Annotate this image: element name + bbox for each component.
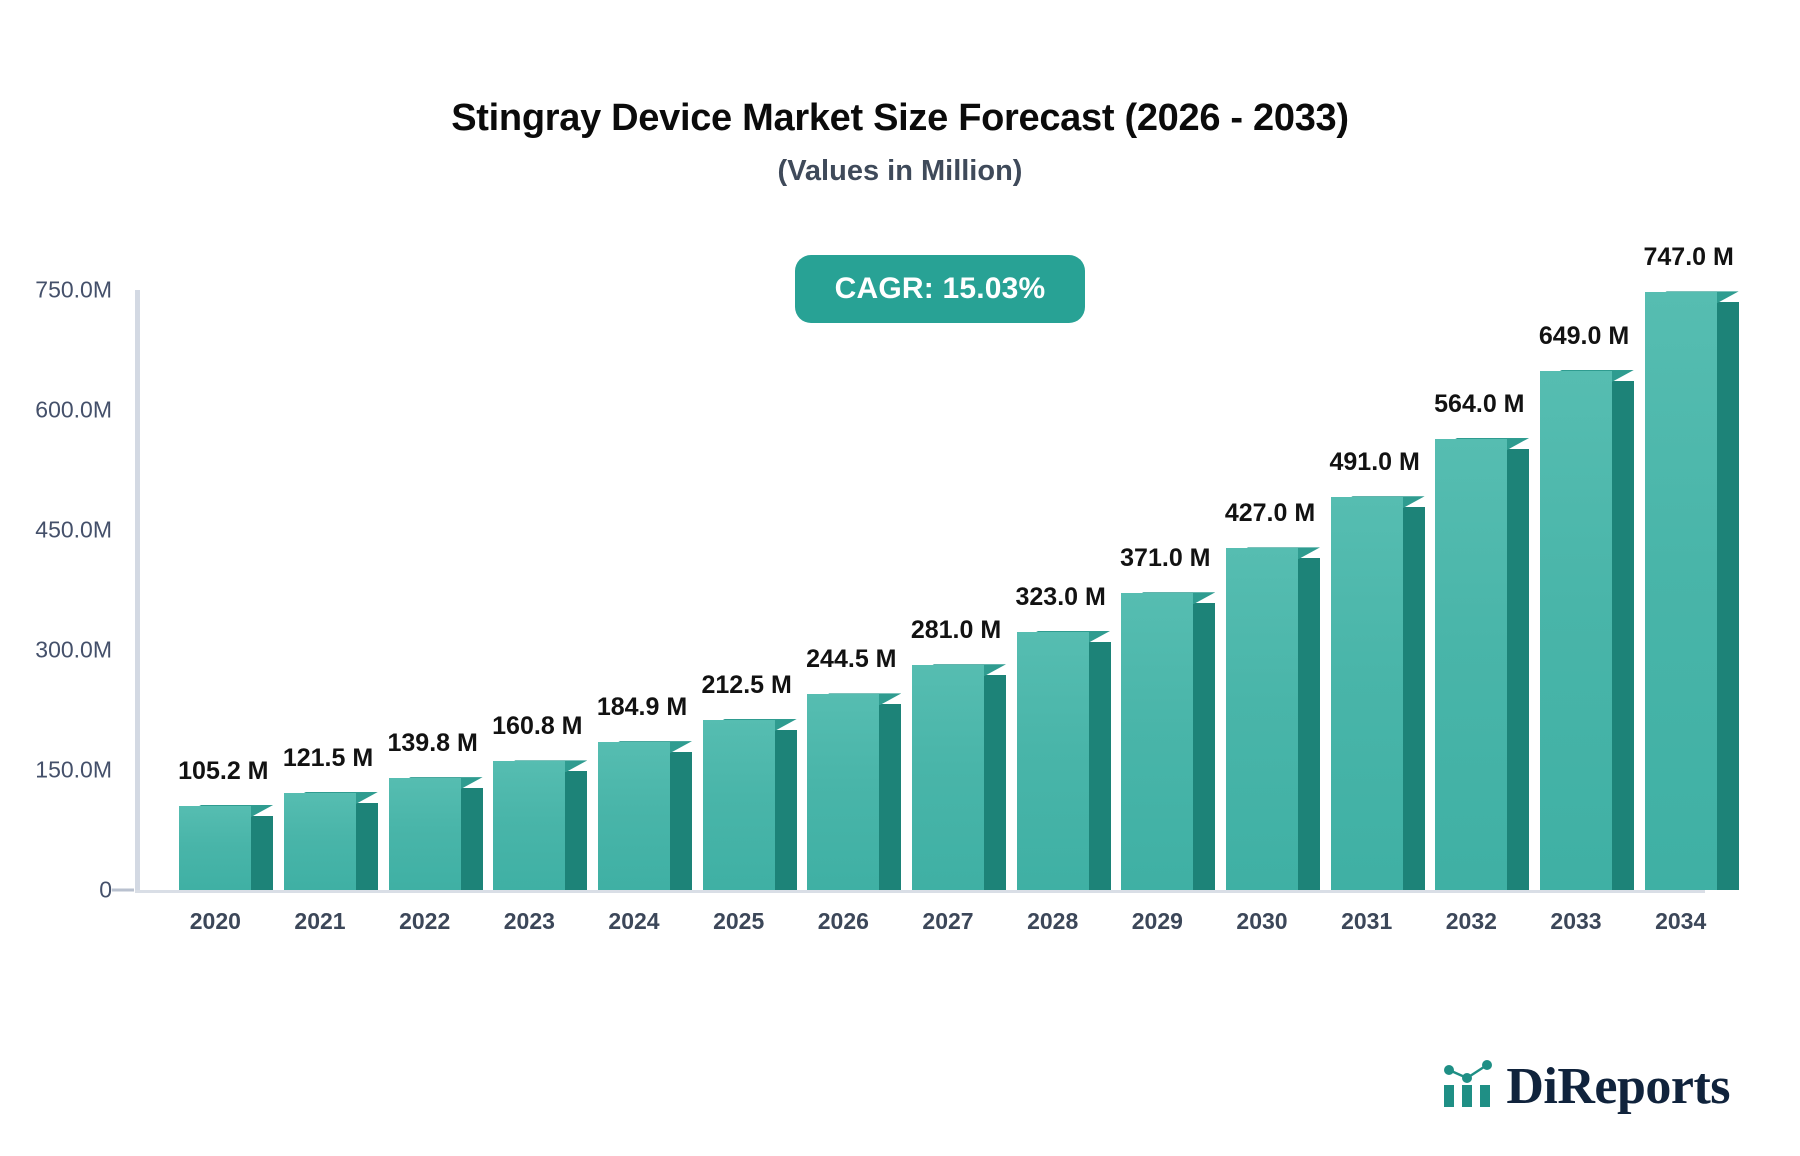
bar-front-face	[1226, 548, 1298, 890]
bar-side-face	[356, 803, 378, 890]
bar-2033[interactable]	[1540, 371, 1612, 890]
bar-front-face	[703, 720, 775, 890]
bar-front-face	[1435, 439, 1507, 890]
bar-2028[interactable]	[1017, 632, 1089, 890]
plot-area: 105.2 M121.5 M139.8 M160.8 M184.9 M212.5…	[135, 290, 1705, 890]
bar-value-label: 371.0 M	[1120, 544, 1210, 573]
bar-2027[interactable]	[912, 665, 984, 890]
bar-side-face	[775, 730, 797, 890]
logo-text: DiReports	[1506, 1061, 1730, 1113]
bar-value-label: 139.8 M	[387, 729, 477, 758]
x-tick-label-2031: 2031	[1341, 908, 1392, 935]
bar-value-label: 244.5 M	[806, 645, 896, 674]
bar-front-face	[912, 665, 984, 890]
bar-2032[interactable]	[1435, 439, 1507, 890]
x-tick-label-2020: 2020	[190, 908, 241, 935]
x-tick-label-2024: 2024	[608, 908, 659, 935]
bar-front-face	[284, 793, 356, 890]
y-tick-label: 0	[99, 877, 112, 904]
x-tick-label-2030: 2030	[1236, 908, 1287, 935]
bar-side-face	[1298, 558, 1320, 890]
x-tick-label-2027: 2027	[922, 908, 973, 935]
y-tick-label: 750.0M	[35, 277, 112, 304]
bar-2021[interactable]	[284, 793, 356, 890]
x-axis-labels: 2020202120222023202420252026202720282029…	[135, 908, 1705, 948]
y-tick-label: 600.0M	[35, 397, 112, 424]
y-tick-label: 300.0M	[35, 637, 112, 664]
bar-front-face	[1540, 371, 1612, 890]
x-tick-label-2029: 2029	[1132, 908, 1183, 935]
bar-side-face	[984, 675, 1006, 890]
bar-side-face	[251, 816, 273, 890]
bar-value-label: 105.2 M	[178, 757, 268, 786]
bar-2026[interactable]	[807, 694, 879, 890]
x-tick-label-2033: 2033	[1550, 908, 1601, 935]
bar-side-face	[1089, 642, 1111, 890]
bar-value-label: 427.0 M	[1225, 499, 1315, 528]
y-tick-label: 450.0M	[35, 517, 112, 544]
bar-value-label: 649.0 M	[1539, 322, 1629, 351]
bar-front-face	[1331, 497, 1403, 890]
bar-front-face	[1121, 593, 1193, 890]
x-tick-label-2023: 2023	[504, 908, 555, 935]
x-tick-label-2032: 2032	[1446, 908, 1497, 935]
bar-2020[interactable]	[179, 806, 251, 890]
bar-side-face	[1403, 507, 1425, 890]
y-tick-mark-zero	[112, 889, 134, 892]
bar-value-label: 121.5 M	[283, 744, 373, 773]
bars-layer: 105.2 M121.5 M139.8 M160.8 M184.9 M212.5…	[135, 290, 1705, 890]
x-tick-label-2022: 2022	[399, 908, 450, 935]
bar-value-label: 747.0 M	[1643, 243, 1733, 272]
x-axis-line	[135, 890, 1705, 893]
bar-value-label: 160.8 M	[492, 712, 582, 741]
bar-2023[interactable]	[493, 761, 565, 890]
y-axis-labels: 0150.0M300.0M450.0M600.0M750.0M	[0, 290, 112, 890]
bar-value-label: 212.5 M	[701, 671, 791, 700]
bar-chart-icon	[1442, 1059, 1496, 1114]
bar-front-face	[493, 761, 565, 890]
bar-2034[interactable]	[1645, 292, 1717, 890]
bar-2025[interactable]	[703, 720, 775, 890]
x-tick-label-2025: 2025	[713, 908, 764, 935]
x-tick-label-2028: 2028	[1027, 908, 1078, 935]
bar-side-face	[670, 752, 692, 890]
bar-value-label: 564.0 M	[1434, 390, 1524, 419]
bar-front-face	[179, 806, 251, 890]
chart-container: Stingray Device Market Size Forecast (20…	[0, 0, 1800, 1156]
bar-2029[interactable]	[1121, 593, 1193, 890]
bar-2030[interactable]	[1226, 548, 1298, 890]
bar-side-face	[565, 771, 587, 890]
x-tick-label-2034: 2034	[1655, 908, 1706, 935]
bar-2031[interactable]	[1331, 497, 1403, 890]
bar-value-label: 281.0 M	[911, 616, 1001, 645]
bar-2022[interactable]	[389, 778, 461, 890]
y-tick-label: 150.0M	[35, 757, 112, 784]
bar-value-label: 323.0 M	[1015, 583, 1105, 612]
bar-front-face	[807, 694, 879, 890]
bar-value-label: 184.9 M	[597, 693, 687, 722]
bar-side-face	[461, 788, 483, 890]
bar-side-face	[1507, 449, 1529, 890]
bar-2024[interactable]	[598, 742, 670, 890]
x-tick-label-2021: 2021	[294, 908, 345, 935]
page-title: Stingray Device Market Size Forecast (20…	[0, 98, 1800, 140]
bar-value-label: 491.0 M	[1329, 448, 1419, 477]
title-block: Stingray Device Market Size Forecast (20…	[0, 98, 1800, 188]
bar-side-face	[1717, 302, 1739, 890]
bar-front-face	[598, 742, 670, 890]
bar-side-face	[1193, 603, 1215, 890]
bar-side-face	[879, 704, 901, 890]
chart-subtitle: (Values in Million)	[0, 156, 1800, 188]
bar-front-face	[389, 778, 461, 890]
bar-front-face	[1645, 292, 1717, 890]
direports-logo: DiReports	[1442, 1059, 1730, 1114]
bar-front-face	[1017, 632, 1089, 890]
x-tick-label-2026: 2026	[818, 908, 869, 935]
bar-side-face	[1612, 381, 1634, 890]
